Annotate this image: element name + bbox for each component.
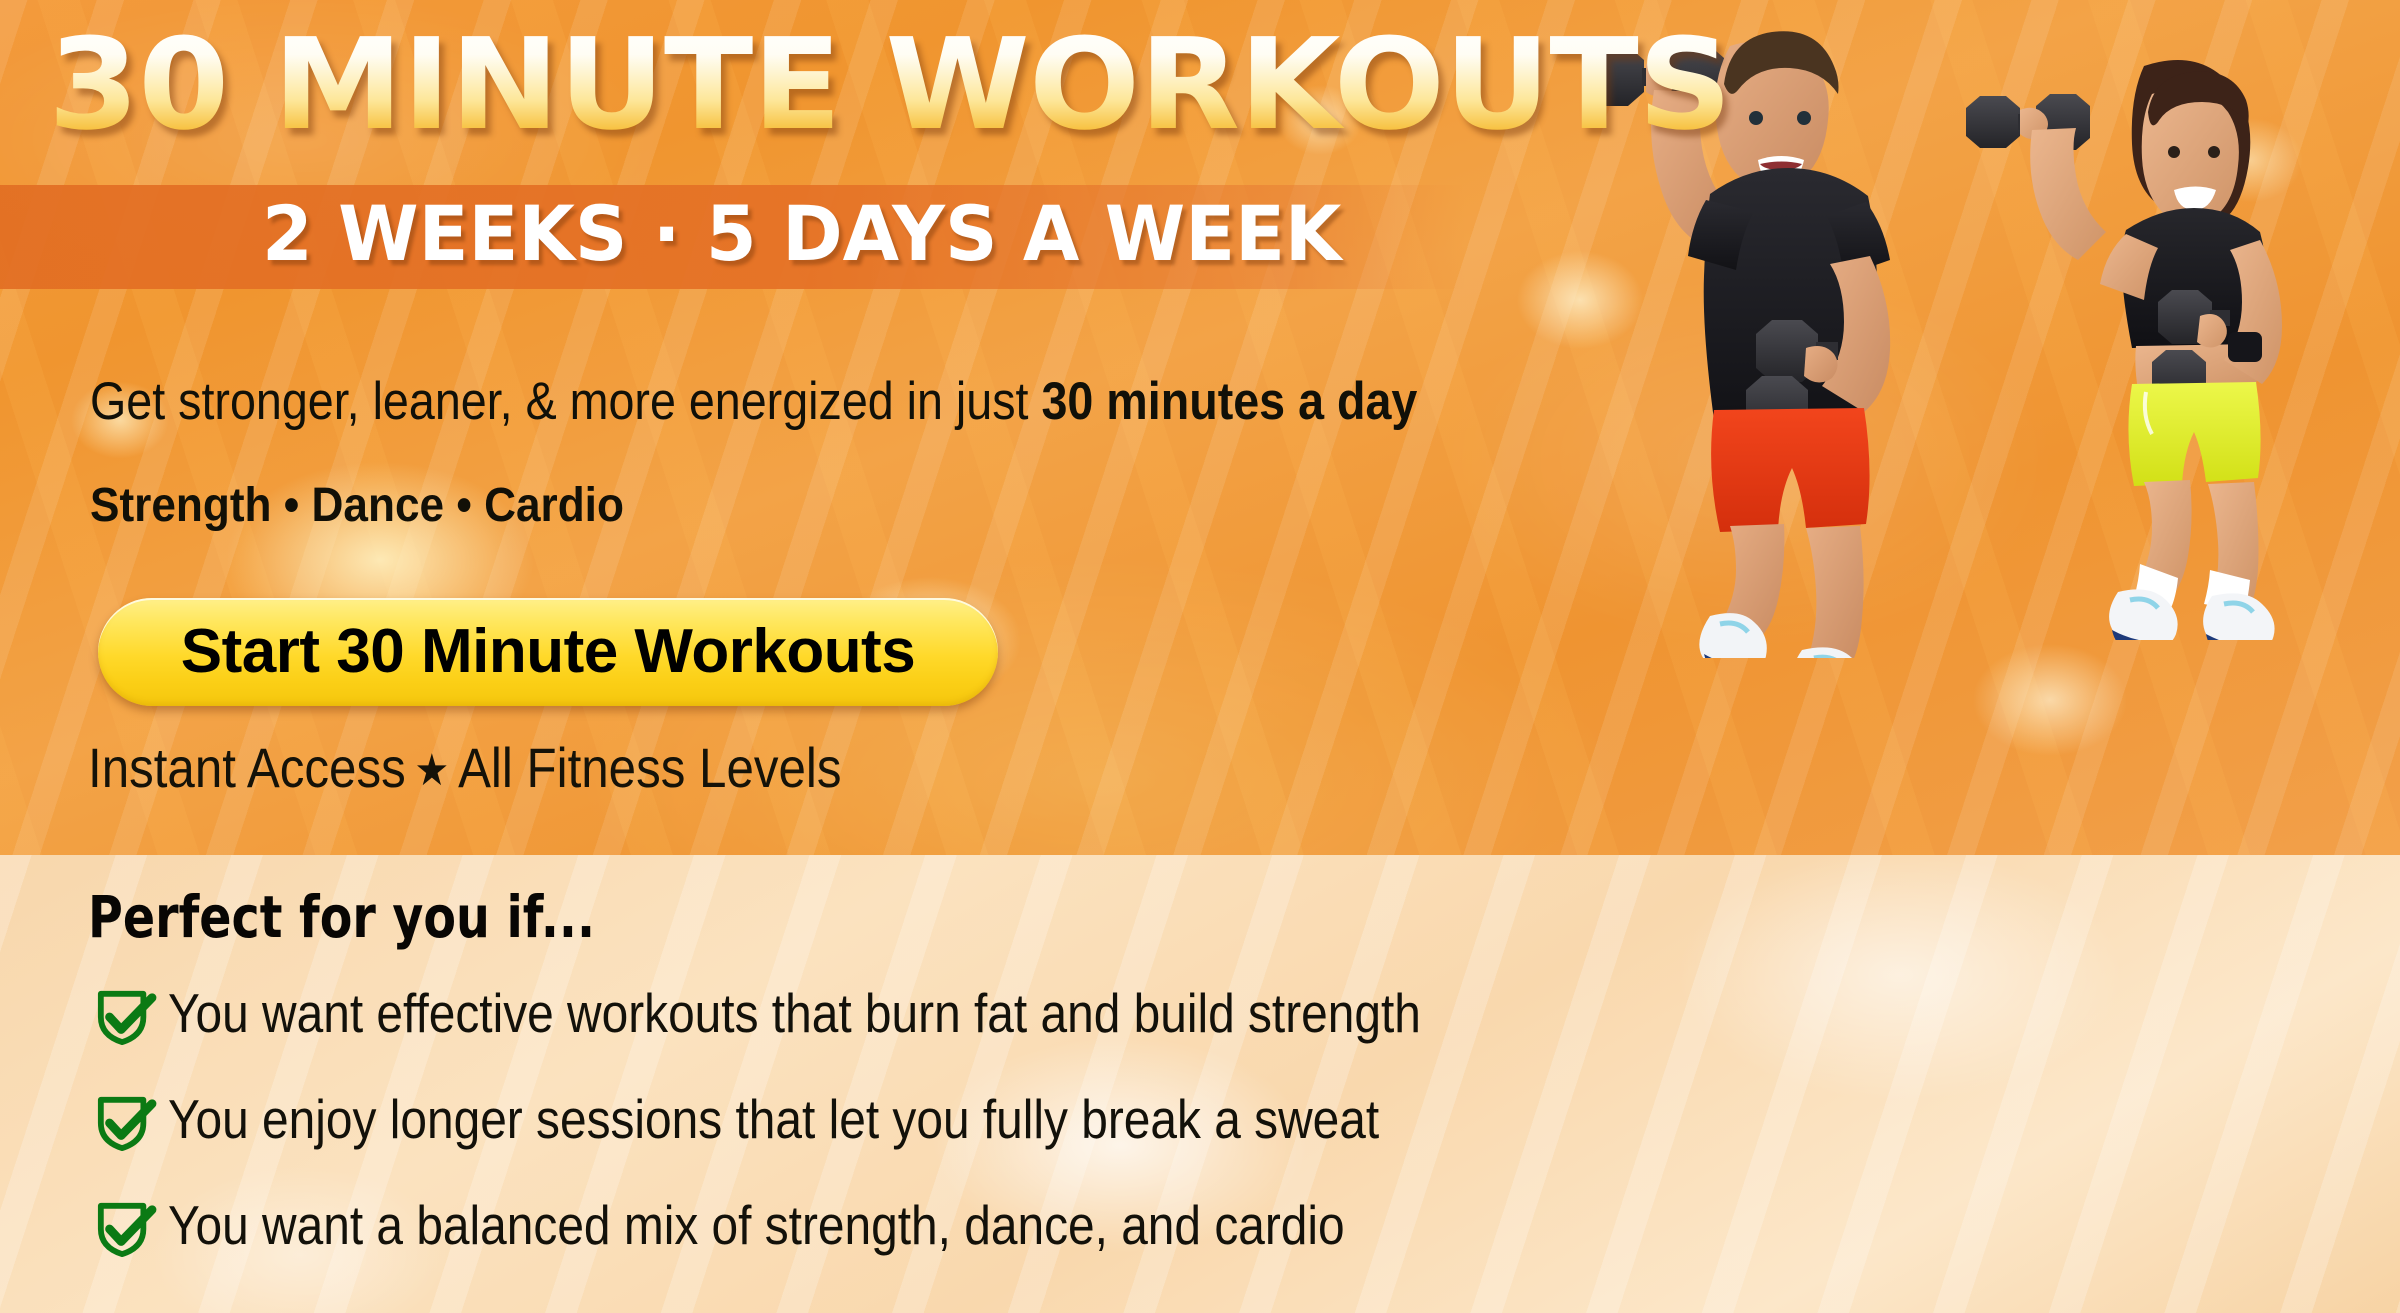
lede-text: Get stronger, leaner, & more energized i… — [90, 375, 1417, 428]
subtitle: 2 WEEKS · 5 DAYS A WEEK — [262, 196, 1341, 272]
check-shield-icon — [96, 1200, 154, 1258]
assurance-right: All Fitness Levels — [458, 736, 841, 799]
assurance-text: Instant Access★All Fitness Levels — [88, 740, 842, 796]
benefits-title: Perfect for you if... — [88, 888, 595, 946]
workout-modes: Strength • Dance • Cardio — [90, 482, 624, 530]
list-item-label: You enjoy longer sessions that let you f… — [168, 1090, 1379, 1147]
star-icon: ★ — [406, 746, 458, 795]
list-item: You want a balanced mix of strength, dan… — [96, 1196, 1896, 1302]
list-item-label: You want effective workouts that burn fa… — [168, 984, 1421, 1041]
assurance-left: Instant Access — [88, 736, 406, 799]
list-item: You enjoy longer sessions that let you f… — [96, 1090, 1896, 1196]
benefits-list: You want effective workouts that burn fa… — [96, 984, 1896, 1302]
promo-banner: 30 MINUTE WORKOUTS 2 WEEKS · 5 DAYS A WE… — [0, 0, 2400, 1313]
lede-bold: 30 minutes a day — [1041, 372, 1417, 431]
lede-prefix: Get stronger, leaner, & more energized i… — [90, 372, 1041, 431]
start-workouts-button[interactable]: Start 30 Minute Workouts — [98, 598, 998, 706]
check-shield-icon — [96, 988, 154, 1046]
list-item: You want effective workouts that burn fa… — [96, 984, 1896, 1090]
list-item-label: You want a balanced mix of strength, dan… — [168, 1196, 1345, 1253]
check-shield-icon — [96, 1094, 154, 1152]
page-title: 30 MINUTE WORKOUTS — [48, 22, 1731, 148]
